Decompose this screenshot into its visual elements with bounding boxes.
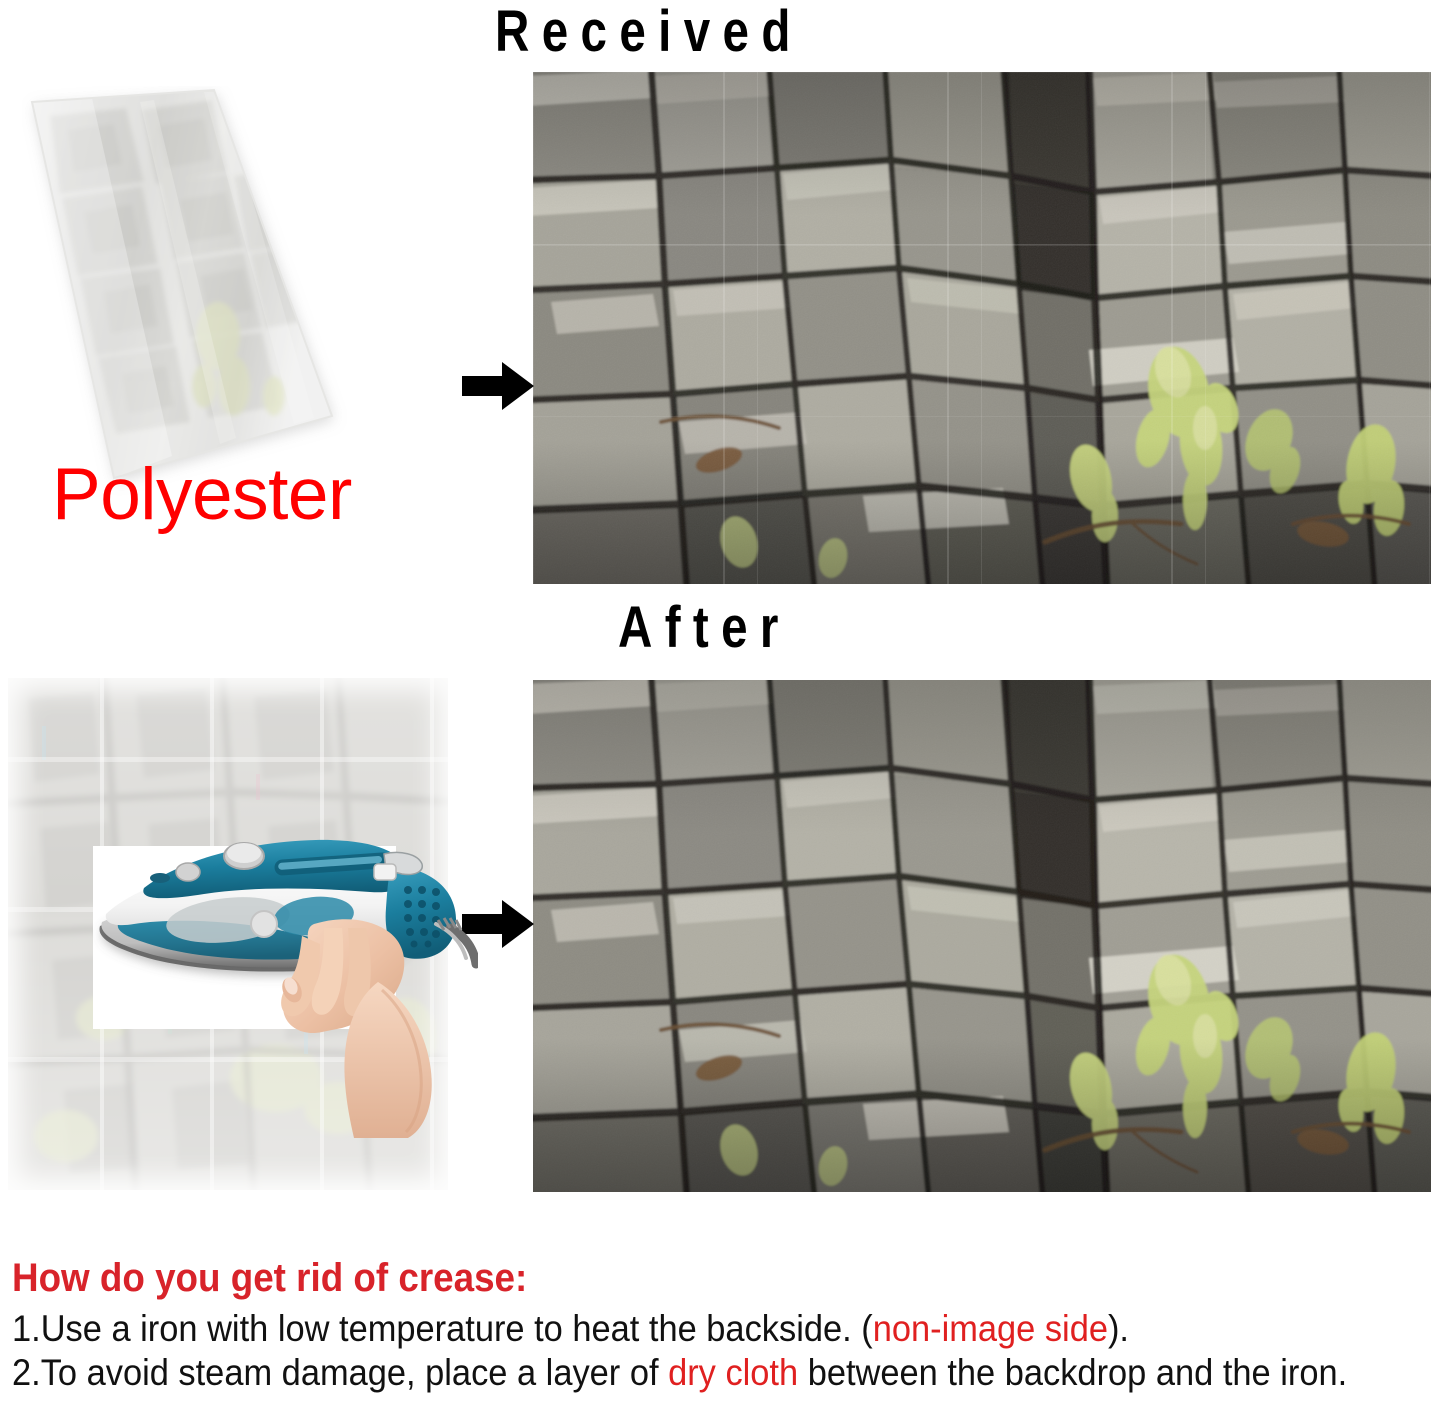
instruction-1-suffix: ). [1108,1308,1129,1349]
arrow-right-icon [462,360,534,412]
arrow-right-icon [462,898,534,950]
received-section-title: Received [495,0,803,65]
instruction-1-highlight: non-image side [873,1308,1108,1349]
instruction-2-highlight: dry cloth [668,1352,798,1393]
after-section-title: After [618,594,791,661]
polyester-material-label: Polyester [52,458,352,531]
instruction-line-2: 2.To avoid steam damage, place a layer o… [12,1351,1333,1394]
instruction-2-prefix: 2.To avoid steam damage, place a layer o… [12,1352,668,1393]
received-backdrop-photo [533,72,1431,584]
folded-polyester-fabric [22,86,422,496]
instruction-1-prefix: 1.Use a iron with low temperature to hea… [12,1308,873,1349]
after-backdrop-photo [533,680,1431,1192]
care-instructions-block: How do you get rid of crease: 1.Use a ir… [12,1255,1432,1396]
instruction-2-suffix: between the backdrop and the iron. [798,1352,1347,1393]
instruction-line-1: 1.Use a iron with low temperature to hea… [12,1307,1333,1350]
instructions-heading: How do you get rid of crease: [12,1255,1318,1301]
iron-photo-backing [93,846,396,1029]
